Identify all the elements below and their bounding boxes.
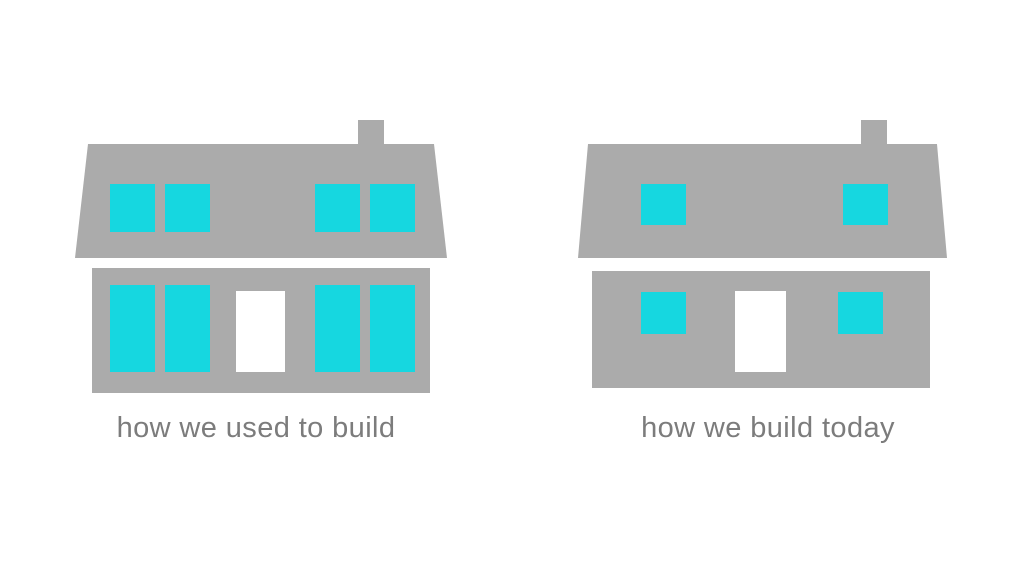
caption-house-old: how we used to build	[0, 408, 512, 448]
window	[370, 285, 415, 372]
window	[370, 184, 415, 232]
window	[843, 184, 888, 225]
figure-house-old: how we used to build	[0, 0, 512, 576]
ground-floor-old	[92, 268, 430, 393]
window	[838, 292, 883, 334]
chimney-old	[358, 120, 384, 146]
window	[315, 285, 360, 372]
window	[165, 184, 210, 232]
roof-today	[578, 144, 947, 258]
house-today-graphic	[512, 0, 1024, 576]
chimney-rect	[861, 120, 887, 146]
window	[110, 184, 155, 232]
ground-floor-today	[592, 271, 930, 388]
door-rect	[735, 291, 786, 372]
chimney-today	[861, 120, 887, 146]
illustration-canvas: how we used to build how we build today	[0, 0, 1024, 576]
door-rect	[236, 291, 285, 372]
chimney-rect	[358, 120, 384, 146]
window	[315, 184, 360, 232]
window	[110, 285, 155, 372]
window	[641, 184, 686, 225]
caption-house-today: how we build today	[512, 408, 1024, 448]
house-old-graphic	[0, 0, 512, 576]
window	[641, 292, 686, 334]
window	[165, 285, 210, 372]
figure-house-today: how we build today	[512, 0, 1024, 576]
roof-trapezoid	[578, 144, 947, 258]
